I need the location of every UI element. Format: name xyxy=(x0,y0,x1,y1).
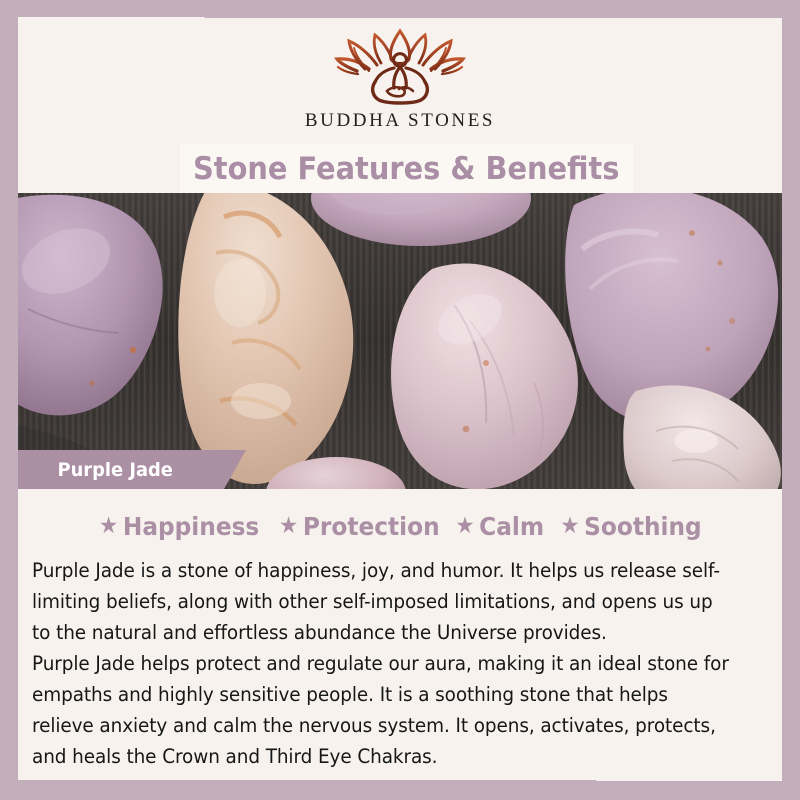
frame-band-top xyxy=(0,0,800,18)
description-paragraph-2: Purple Jade helps protect and regulate o… xyxy=(32,648,729,772)
hero-photo xyxy=(18,193,782,489)
lotus-meditation-icon xyxy=(325,25,475,109)
benefit-label: Soothing xyxy=(584,512,702,541)
description-paragraph-1: Purple Jade is a stone of happiness, joy… xyxy=(32,555,729,648)
page-title: Stone Features & Benefits xyxy=(193,151,619,187)
benefit-item-protection: ★ Protection xyxy=(279,512,440,541)
benefit-label: Protection xyxy=(302,512,439,541)
frame-edge-right xyxy=(782,0,800,800)
benefit-label: Happiness xyxy=(123,512,259,541)
stone-name-label: Purple Jade xyxy=(18,459,173,481)
star-icon: ★ xyxy=(560,515,579,538)
brand-header: BUDDHA STONES xyxy=(18,17,782,145)
benefit-item-calm: ★ Calm xyxy=(456,512,545,541)
section-title-plate: Stone Features & Benefits xyxy=(180,144,633,193)
brand-name: BUDDHA STONES xyxy=(305,110,495,132)
star-icon: ★ xyxy=(99,515,118,538)
star-icon: ★ xyxy=(279,515,298,538)
benefits-row: ★ Happiness ★ Protection ★ Calm ★ Soothi… xyxy=(18,506,782,546)
frame-edge-left xyxy=(0,0,18,800)
frame-band-bottom xyxy=(0,780,800,800)
star-icon: ★ xyxy=(456,515,475,538)
benefit-item-soothing: ★ Soothing xyxy=(560,512,701,541)
benefit-label: Calm xyxy=(479,512,544,541)
stone-name-banner: Purple Jade xyxy=(18,450,246,489)
product-info-card: BUDDHA STONES Stone Features & Benefits xyxy=(0,0,800,800)
description-block: Purple Jade is a stone of happiness, joy… xyxy=(18,555,782,772)
benefit-item-happiness: ★ Happiness xyxy=(99,512,259,541)
